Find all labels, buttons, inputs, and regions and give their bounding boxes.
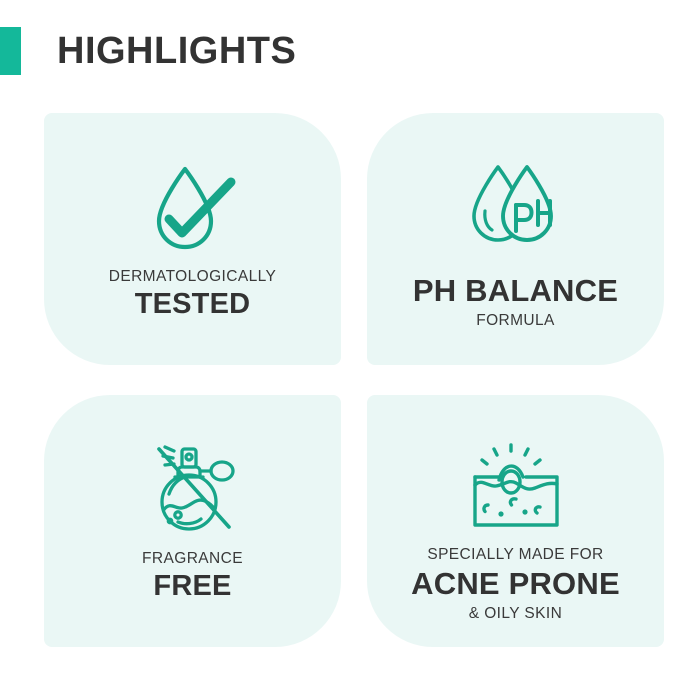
card-text-block: SPECIALLY MADE FOR ACNE PRONE & OILY SKI… [367,545,664,624]
highlight-card-dermatologically-tested: DERMATOLOGICALLY TESTED [44,113,341,365]
highlight-card-ph-balance: PH BALANCE FORMULA [367,113,664,365]
highlights-page: HIGHLIGHTS DERMATOLOGICALLY TESTED [0,0,700,700]
no-fragrance-icon [141,437,245,541]
highlights-grid: DERMATOLOGICALLY TESTED [44,113,664,658]
card-text-block: PH BALANCE FORMULA [367,273,664,331]
card-subtitle-top: DERMATOLOGICALLY [56,267,329,286]
card-text-block: DERMATOLOGICALLY TESTED [44,267,341,322]
card-title: PH BALANCE [379,273,652,309]
card-title: FREE [56,570,329,603]
card-subtitle-top: FRAGRANCE [56,549,329,568]
card-subtitle-top: SPECIALLY MADE FOR [379,545,652,564]
droplet-check-icon [145,155,241,259]
acne-skin-icon [461,437,571,541]
highlight-card-acne-prone: SPECIALLY MADE FOR ACNE PRONE & OILY SKI… [367,395,664,647]
card-subtitle-bottom: FORMULA [379,311,652,331]
highlight-card-fragrance-free: FRAGRANCE FREE [44,395,341,647]
card-title: TESTED [56,288,329,321]
card-text-block: FRAGRANCE FREE [44,549,341,604]
ph-droplets-icon [464,155,568,259]
card-subtitle-bottom: & OILY SKIN [379,604,652,624]
card-title: ACNE PRONE [379,566,652,602]
page-header: HIGHLIGHTS [0,25,700,77]
page-title: HIGHLIGHTS [57,32,296,70]
accent-bar [0,27,21,75]
